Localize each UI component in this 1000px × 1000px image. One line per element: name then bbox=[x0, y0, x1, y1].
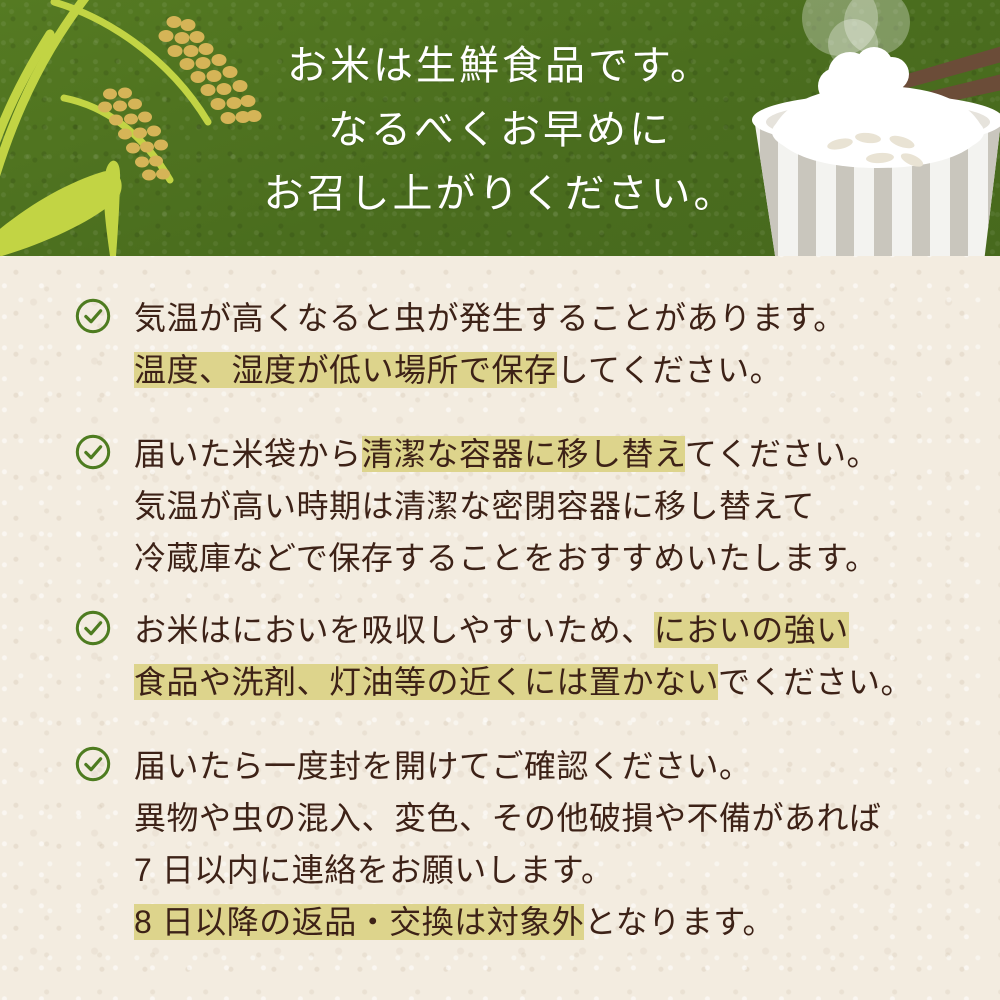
hero-title-line-1: お米は生鮮食品です。 bbox=[0, 34, 1000, 98]
note-span: 7 日以内に連絡をお願いします。 bbox=[134, 852, 614, 888]
check-circle-icon bbox=[74, 297, 112, 335]
note-span: 冷蔵庫などで保存することをおすすめいたします。 bbox=[134, 540, 878, 576]
note-span: てください。 bbox=[685, 436, 879, 472]
note-span-highlighted: 清潔な容器に移し替え bbox=[362, 436, 685, 472]
hero-title: お米は生鮮食品です。 なるべくお早めに お召し上がりください。 bbox=[0, 34, 1000, 226]
note-line: 7 日以内に連絡をお願いします。 bbox=[134, 844, 974, 896]
note-item: 届いた米袋から清潔な容器に移し替えてください。 気温が高い時期は清潔な密閉容器に… bbox=[74, 428, 974, 584]
note-line: 届いたら一度封を開けてご確認ください。 bbox=[134, 740, 974, 792]
note-span-highlighted: 温度、湿度が低い場所で保存 bbox=[134, 352, 557, 388]
note-line: 8 日以降の返品・交換は対象外となります。 bbox=[134, 896, 974, 948]
note-span: してください。 bbox=[557, 352, 783, 388]
note-span: 気温が高い時期は清潔な密閉容器に移し替えて bbox=[134, 488, 815, 524]
note-line: 異物や虫の混入、変色、その他破損や不備があれば bbox=[134, 792, 974, 844]
note-span: 届いたら一度封を開けてご確認ください。 bbox=[134, 748, 752, 784]
note-line: お米はにおいを吸収しやすいため、においの強い bbox=[134, 604, 974, 656]
note-line: 温度、湿度が低い場所で保存してください。 bbox=[134, 344, 974, 396]
note-line: 食品や洗剤、灯油等の近くには置かないでください。 bbox=[134, 656, 974, 708]
note-line: 気温が高くなると虫が発生することがあります。 bbox=[134, 292, 974, 344]
note-line: 届いた米袋から清潔な容器に移し替えてください。 bbox=[134, 428, 974, 480]
note-lines: お米はにおいを吸収しやすいため、においの強い 食品や洗剤、灯油等の近くには置かな… bbox=[134, 604, 974, 708]
note-line: 冷蔵庫などで保存することをおすすめいたします。 bbox=[134, 532, 974, 584]
note-item: お米はにおいを吸収しやすいため、においの強い 食品や洗剤、灯油等の近くには置かな… bbox=[74, 604, 974, 708]
note-span-highlighted: においの強い bbox=[654, 612, 849, 648]
check-circle-icon bbox=[74, 745, 112, 783]
check-circle-icon bbox=[74, 609, 112, 647]
note-span: お米はにおいを吸収しやすいため、 bbox=[134, 612, 654, 648]
hero-banner: お米は生鮮食品です。 なるべくお早めに お召し上がりください。 bbox=[0, 0, 1000, 256]
note-span-highlighted: 8 日以降の返品・交換は対象外 bbox=[134, 904, 584, 940]
notes-list: 気温が高くなると虫が発生することがあります。 温度、湿度が低い場所で保存してくだ… bbox=[0, 256, 1000, 1000]
hero-title-line-3: お召し上がりください。 bbox=[0, 162, 1000, 226]
note-span: 届いた米袋から bbox=[134, 436, 362, 472]
note-span: 気温が高くなると虫が発生することがあります。 bbox=[134, 300, 846, 336]
note-lines: 届いた米袋から清潔な容器に移し替えてください。 気温が高い時期は清潔な密閉容器に… bbox=[134, 428, 974, 584]
note-span-highlighted: 食品や洗剤、灯油等の近くには置かない bbox=[134, 664, 718, 700]
note-lines: 気温が高くなると虫が発生することがあります。 温度、湿度が低い場所で保存してくだ… bbox=[134, 292, 974, 396]
rice-storage-notice-page: お米は生鮮食品です。 なるべくお早めに お召し上がりください。 気温が高くなると… bbox=[0, 0, 1000, 1000]
note-span: となります。 bbox=[584, 904, 775, 940]
note-lines: 届いたら一度封を開けてご確認ください。 異物や虫の混入、変色、その他破損や不備が… bbox=[134, 740, 974, 948]
check-circle-icon bbox=[74, 433, 112, 471]
note-item: 届いたら一度封を開けてご確認ください。 異物や虫の混入、変色、その他破損や不備が… bbox=[74, 740, 974, 948]
note-span: でください。 bbox=[718, 664, 913, 700]
hero-title-line-2: なるべくお早めに bbox=[0, 98, 1000, 162]
note-item: 気温が高くなると虫が発生することがあります。 温度、湿度が低い場所で保存してくだ… bbox=[74, 292, 974, 396]
note-line: 気温が高い時期は清潔な密閉容器に移し替えて bbox=[134, 480, 974, 532]
note-span: 異物や虫の混入、変色、その他破損や不備があれば bbox=[134, 800, 882, 836]
